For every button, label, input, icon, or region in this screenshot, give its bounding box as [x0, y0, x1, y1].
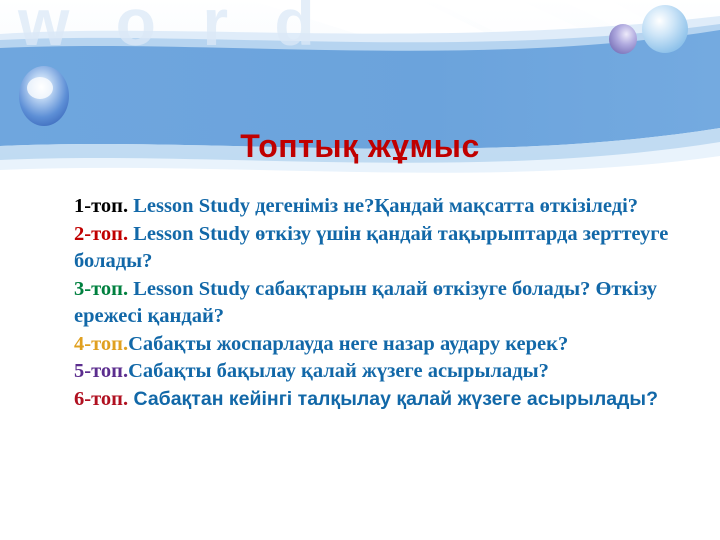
- group-question-6: Сабақтан кейінгі талқылау қалай жүзеге а…: [128, 388, 658, 410]
- list-item: 3-топ. Lesson Study сабақтарын қалай өтк…: [74, 276, 674, 331]
- slide: w o r d: [0, 0, 720, 540]
- group-tag-4: 4-топ.: [74, 333, 128, 355]
- list-item: 1-топ. Lesson Study дегеніміз не?Қандай …: [74, 193, 674, 221]
- group-question-3: Lesson Study сабақтарын қалай өткізуге б…: [74, 278, 657, 328]
- list-item: 5-топ.Сабақты бақылау қалай жүзеге асыры…: [74, 358, 674, 386]
- group-question-5: Сабақты бақылау қалай жүзеге асырылады?: [128, 360, 549, 382]
- group-tag-5: 5-топ.: [74, 360, 128, 382]
- group-tag-3: 3-топ.: [74, 278, 128, 300]
- group-tag-2: 2-топ.: [74, 223, 128, 245]
- page-title: Топтық жұмыс: [0, 128, 720, 165]
- group-task-list: 1-топ. Lesson Study дегеніміз не?Қандай …: [74, 193, 674, 413]
- bubble-top-right-small: [609, 24, 637, 54]
- group-tag-6: 6-топ.: [74, 388, 128, 410]
- group-tag-1: 1-топ.: [74, 195, 128, 217]
- bubble-top-right-large: [642, 5, 688, 53]
- list-item: 4-топ.Сабақты жоспарлауда неге назар ауд…: [74, 331, 674, 359]
- list-item: 2-топ. Lesson Study өткізу үшін қандай т…: [74, 221, 674, 276]
- watermark-text: w o r d: [18, 0, 329, 60]
- list-item: 6-топ. Сабақтан кейінгі талқылау қалай ж…: [74, 386, 674, 414]
- group-question-2: Lesson Study өткізу үшін қандай тақырыпт…: [74, 223, 668, 273]
- group-question-1: Lesson Study дегеніміз не?Қандай мақсатт…: [128, 195, 638, 217]
- group-question-4: Сабақты жоспарлауда неге назар аудару ке…: [128, 333, 568, 355]
